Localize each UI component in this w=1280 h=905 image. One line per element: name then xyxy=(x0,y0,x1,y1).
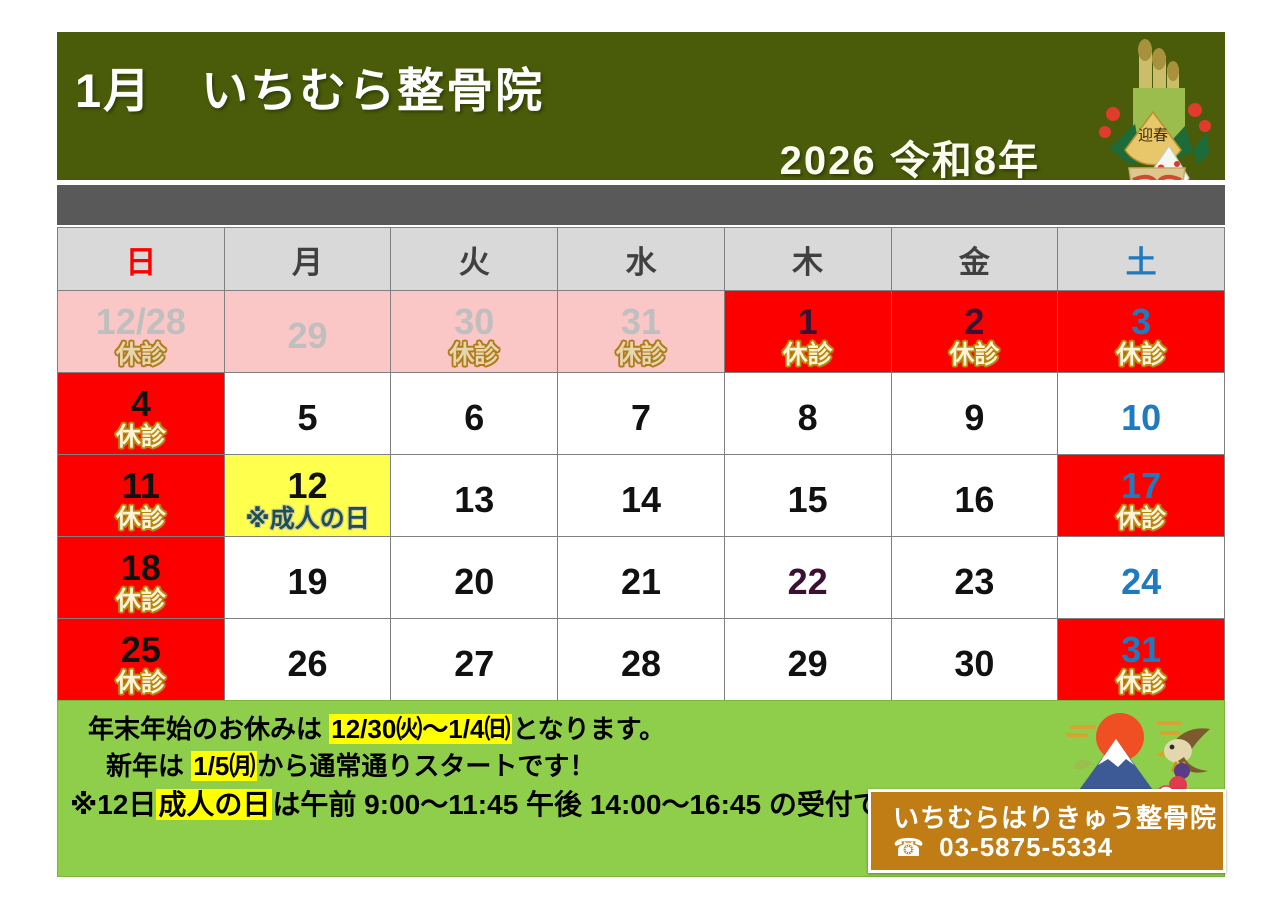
day-number: 25 xyxy=(58,632,224,668)
closed-label: 休診 xyxy=(58,507,224,532)
day-number: 29 xyxy=(225,318,391,354)
day-number: 2 xyxy=(892,304,1058,340)
closed-label: 休診 xyxy=(58,343,224,368)
closed-label: 休診 xyxy=(391,343,557,368)
day-cell-25[interactable]: 25休診 xyxy=(58,619,225,701)
day-number: 22 xyxy=(725,564,891,600)
day-number: 11 xyxy=(58,468,224,504)
page-title: 1月 いちむら整骨院 xyxy=(75,52,544,121)
day-cell-24[interactable]: 24 xyxy=(1058,537,1225,619)
closed-label: 休診 xyxy=(58,425,224,450)
day-cell-18[interactable]: 18休診 xyxy=(58,537,225,619)
day-cell-22[interactable]: 22 xyxy=(724,537,891,619)
day-number: 8 xyxy=(725,400,891,436)
contact-card[interactable]: いちむらはりきゅう整骨院 ☎03-5875-5334 xyxy=(868,789,1226,873)
day-cell-21[interactable]: 21 xyxy=(558,537,725,619)
day-number: 16 xyxy=(892,482,1058,518)
day-cell-20[interactable]: 20 xyxy=(391,537,558,619)
header-divider-bar xyxy=(57,185,1225,225)
day-cell-5[interactable]: 5 xyxy=(224,373,391,455)
day-number: 7 xyxy=(558,400,724,436)
day-number: 27 xyxy=(391,646,557,682)
weekday-header-sunday: 日 xyxy=(58,228,225,291)
notice-1-prefix: 年末年始のお休みは xyxy=(88,714,329,744)
day-cell-12[interactable]: 12※成人の日 xyxy=(224,455,391,537)
calendar-header: 1月 いちむら整骨院 2026 令和8年 迎春 xyxy=(57,32,1225,180)
day-cell-31[interactable]: 31休診 xyxy=(1058,619,1225,701)
weekday-header-weekday: 火 xyxy=(391,228,558,291)
weekday-header-weekday: 木 xyxy=(724,228,891,291)
day-cell-10[interactable]: 10 xyxy=(1058,373,1225,455)
day-number: 15 xyxy=(725,482,891,518)
weekday-header-saturday: 土 xyxy=(1058,228,1225,291)
day-number: 28 xyxy=(558,646,724,682)
calendar-page: 1月 いちむら整骨院 2026 令和8年 迎春 xyxy=(0,0,1280,905)
day-number: 10 xyxy=(1058,400,1224,436)
day-cell-15[interactable]: 15 xyxy=(724,455,891,537)
day-cell-1[interactable]: 1休診 xyxy=(724,291,891,373)
day-number: 14 xyxy=(558,482,724,518)
day-number: 30 xyxy=(391,304,557,340)
day-number: 6 xyxy=(391,400,557,436)
weekday-header-weekday: 月 xyxy=(224,228,391,291)
notice-1-suffix: となります。 xyxy=(512,714,665,744)
day-cell-29[interactable]: 29 xyxy=(724,619,891,701)
closed-label: 休診 xyxy=(1058,343,1224,368)
closed-label: 休診 xyxy=(725,343,891,368)
closed-label: 休診 xyxy=(58,589,224,614)
weekday-header-weekday: 水 xyxy=(558,228,725,291)
day-number: 29 xyxy=(725,646,891,682)
day-cell-30[interactable]: 30休診 xyxy=(391,291,558,373)
day-cell-29[interactable]: 29 xyxy=(224,291,391,373)
day-cell-2[interactable]: 2休診 xyxy=(891,291,1058,373)
day-cell-31[interactable]: 31休診 xyxy=(558,291,725,373)
calendar-week-row: 11休診12※成人の日1314151617休診 xyxy=(58,455,1225,537)
day-number: 31 xyxy=(1058,632,1224,668)
day-cell-7[interactable]: 7 xyxy=(558,373,725,455)
day-cell-19[interactable]: 19 xyxy=(224,537,391,619)
closed-label: 休診 xyxy=(1058,671,1224,696)
day-number: 26 xyxy=(225,646,391,682)
phone-number: 03-5875-5334 xyxy=(939,832,1113,862)
day-number: 30 xyxy=(892,646,1058,682)
closed-label: 休診 xyxy=(58,671,224,696)
notice-line-1: 年末年始のお休みは 12/30㈫〜1/4㈰となります。 xyxy=(88,709,665,746)
notice-2-suffix: から通常通りスタートです！ xyxy=(257,751,595,781)
day-number: 20 xyxy=(391,564,557,600)
day-cell-16[interactable]: 16 xyxy=(891,455,1058,537)
notice-line-2: 新年は 1/5㈪から通常通りスタートです！ xyxy=(106,746,595,783)
notice-1-highlight: 12/30㈫〜1/4㈰ xyxy=(329,714,512,744)
day-number: 21 xyxy=(558,564,724,600)
telephone-icon: ☎ xyxy=(893,834,925,862)
clinic-name: いちむらはりきゅう整骨院 xyxy=(893,798,1217,835)
kadomatsu-icon: 迎春 xyxy=(1089,32,1217,180)
calendar-week-row: 18休診192021222324 xyxy=(58,537,1225,619)
day-cell-4[interactable]: 4休診 xyxy=(58,373,225,455)
day-number: 19 xyxy=(225,564,391,600)
notice-2-prefix: 新年は xyxy=(106,751,191,781)
day-number: 17 xyxy=(1058,468,1224,504)
holiday-label: ※成人の日 xyxy=(225,507,391,532)
day-number: 4 xyxy=(58,386,224,422)
day-number: 13 xyxy=(391,482,557,518)
notice-line-3: ※12日成人の日は午前 9:00〜11:45 午後 14:00〜16:45 の受… xyxy=(70,783,934,823)
day-cell-9[interactable]: 9 xyxy=(891,373,1058,455)
day-cell-12/28[interactable]: 12/28休診 xyxy=(58,291,225,373)
calendar-grid: 日月火水木金土 12/28休診2930休診31休診1休診2休診3休診4休診567… xyxy=(57,227,1225,701)
notice-3-suffix: は午前 9:00〜11:45 午後 14:00〜16:45 の受付です。 xyxy=(272,789,934,820)
weekday-header-row: 日月火水木金土 xyxy=(58,228,1225,291)
calendar-week-row: 25休診262728293031休診 xyxy=(58,619,1225,701)
day-number: 31 xyxy=(558,304,724,340)
day-cell-30[interactable]: 30 xyxy=(891,619,1058,701)
day-cell-17[interactable]: 17休診 xyxy=(1058,455,1225,537)
day-number: 1 xyxy=(725,304,891,340)
day-number: 12/28 xyxy=(58,304,224,340)
day-cell-11[interactable]: 11休診 xyxy=(58,455,225,537)
day-number: 5 xyxy=(225,400,391,436)
day-number: 23 xyxy=(892,564,1058,600)
day-number: 9 xyxy=(892,400,1058,436)
calendar-week-row: 4休診5678910 xyxy=(58,373,1225,455)
day-cell-27[interactable]: 27 xyxy=(391,619,558,701)
day-number: 12 xyxy=(225,468,391,504)
closed-label: 休診 xyxy=(892,343,1058,368)
closed-label: 休診 xyxy=(558,343,724,368)
day-number: 18 xyxy=(58,550,224,586)
day-cell-6[interactable]: 6 xyxy=(391,373,558,455)
closed-label: 休診 xyxy=(1058,507,1224,532)
day-cell-14[interactable]: 14 xyxy=(558,455,725,537)
day-cell-3[interactable]: 3休診 xyxy=(1058,291,1225,373)
notice-3-highlight: 成人の日 xyxy=(156,789,272,820)
weekday-header-weekday: 金 xyxy=(891,228,1058,291)
day-number: 3 xyxy=(1058,304,1224,340)
day-number: 24 xyxy=(1058,564,1224,600)
day-cell-13[interactable]: 13 xyxy=(391,455,558,537)
day-cell-8[interactable]: 8 xyxy=(724,373,891,455)
day-cell-23[interactable]: 23 xyxy=(891,537,1058,619)
day-cell-28[interactable]: 28 xyxy=(558,619,725,701)
year-label: 2026 令和8年 xyxy=(780,128,1040,180)
notice-3-prefix: ※12日 xyxy=(70,789,156,820)
fan-text: 迎春 xyxy=(1138,126,1168,144)
calendar-week-row: 12/28休診2930休診31休診1休診2休診3休診 xyxy=(58,291,1225,373)
notice-2-highlight: 1/5㈪ xyxy=(191,751,257,781)
phone-row[interactable]: ☎03-5875-5334 xyxy=(893,832,1113,863)
day-cell-26[interactable]: 26 xyxy=(224,619,391,701)
